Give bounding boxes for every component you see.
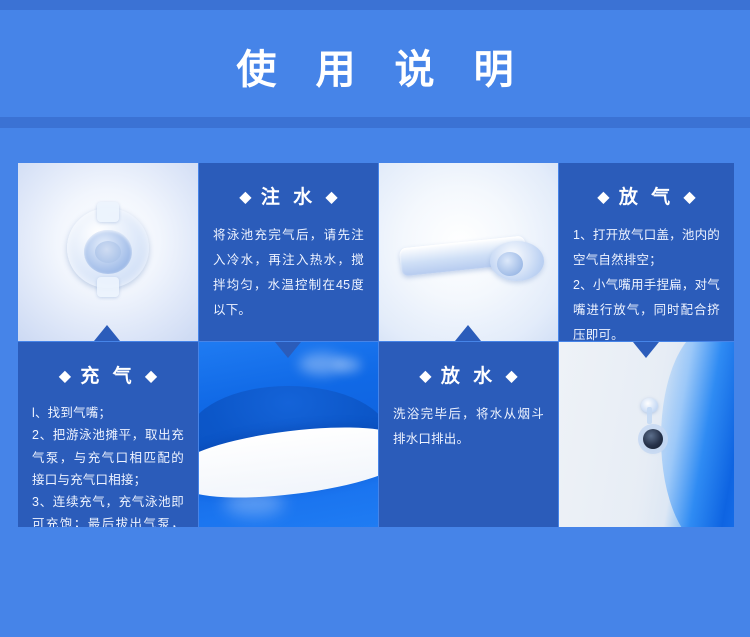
panel-inflate-title-text: 充 气 — [80, 366, 135, 387]
pool-highlight — [224, 490, 284, 516]
panel-inflate-title: ◆ 充 气 ◆ — [32, 361, 184, 388]
diamond-right-icon: ◆ — [683, 189, 695, 206]
instruction-grid: ◆ 注 水 ◆ 将泳池充完气后，请先注入冷水，再注入热水，搅拌均匀，水温控制在4… — [18, 163, 734, 527]
drain-plug — [643, 429, 663, 449]
valve-bottom-tab — [97, 277, 119, 297]
diamond-left-icon: ◆ — [419, 368, 431, 385]
blue-pool-photo — [199, 342, 378, 527]
nozzle-cap — [497, 252, 523, 276]
diamond-left-icon: ◆ — [59, 368, 71, 385]
diamond-left-icon: ◆ — [597, 189, 609, 206]
panel-drain-title: ◆ 放 水 ◆ — [393, 361, 544, 388]
notch-down-icon — [275, 342, 301, 358]
inflation-valve-photo — [18, 163, 198, 341]
diamond-right-icon: ◆ — [325, 189, 337, 206]
panel-deflate: ◆ 放 气 ◆ 1、打开放气口盖，池内的空气自然排空； 2、小气嘴用手捏扁，对气… — [559, 163, 734, 341]
top-divider-rule — [0, 0, 750, 10]
diamond-right-icon: ◆ — [145, 368, 157, 385]
notch-down-icon — [633, 342, 659, 358]
panel-deflate-body-line-1: 1、打开放气口盖，池内的空气自然排空； — [573, 223, 720, 273]
pool-wall — [661, 342, 735, 527]
drain-cap-strap — [647, 407, 652, 424]
panel-drain-title-text: 放 水 — [441, 366, 496, 387]
panel-water-fill-title: ◆ 注 水 ◆ — [213, 182, 364, 209]
drain-plug-photo — [559, 342, 734, 527]
header-spacer-band — [0, 128, 750, 163]
panel-drain: ◆ 放 水 ◆ 洗浴完毕后，将水从烟斗排水口排出。 — [379, 342, 558, 527]
panel-water-fill-body: 将泳池充完气后，请先注入冷水，再注入热水，搅拌均匀，水温控制在45度以下。 — [213, 223, 364, 323]
panel-deflate-body-line-2: 2、小气嘴用手捏扁，对气嘴进行放气，同时配合挤压即可。 — [573, 273, 720, 341]
valve-top-tab — [97, 202, 119, 222]
diamond-left-icon: ◆ — [239, 189, 251, 206]
valve-core — [95, 241, 121, 263]
header-bottom-divider-rule — [0, 117, 750, 128]
panel-inflate-body-line-1: l、找到气嘴； — [32, 402, 184, 424]
panel-drain-body: 洗浴完毕后，将水从烟斗排水口排出。 — [393, 402, 544, 452]
panel-inflate: ◆ 充 气 ◆ l、找到气嘴； 2、把游泳池摊平，取出充气泵，与充气口相匹配的接… — [18, 342, 198, 527]
panel-water-fill-title-text: 注 水 — [261, 187, 316, 208]
page-title: 使 用 说 明 — [0, 46, 750, 94]
notch-up-icon — [455, 325, 481, 341]
pool-highlight — [335, 357, 361, 373]
instruction-page: 使 用 说 明 ◆ 注 水 ◆ 将泳池充完气后，请先注入冷水，再注入热水，搅拌均… — [0, 0, 750, 637]
panel-deflate-title: ◆ 放 气 ◆ — [573, 182, 720, 209]
diamond-right-icon: ◆ — [505, 368, 517, 385]
header-banner: 使 用 说 明 — [0, 10, 750, 117]
panel-water-fill: ◆ 注 水 ◆ 将泳池充完气后，请先注入冷水，再注入热水，搅拌均匀，水温控制在4… — [199, 163, 378, 341]
notch-up-icon — [94, 325, 120, 341]
panel-deflate-title-text: 放 气 — [619, 187, 674, 208]
panel-inflate-body-line-2: 2、把游泳池摊平，取出充气泵，与充气口相匹配的接口与充气口相接； — [32, 424, 184, 491]
panel-inflate-body-line-3: 3、连续充气，充气泳池即可充饱；最后拔出气泵，并迅速盖上气盖，完成充气。 — [32, 491, 184, 527]
air-nozzle-photo — [379, 163, 558, 341]
